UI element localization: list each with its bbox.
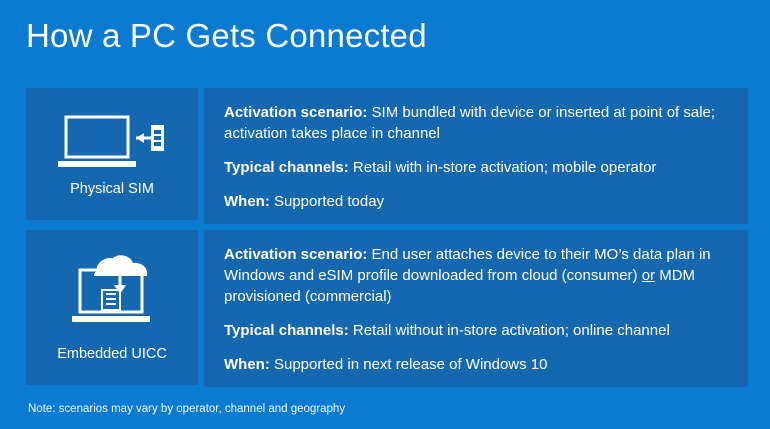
- physical-sim-icon-cell: Physical SIM: [26, 88, 198, 220]
- when-text-row1: Supported today: [270, 193, 384, 210]
- table-row: Embedded UICC Activation scenario: End u…: [26, 230, 748, 387]
- embedded-uicc-icon-cell: Embedded UICC: [26, 230, 198, 385]
- activation-scenario-row2: Activation scenario: End user attaches d…: [224, 244, 732, 307]
- typical-channels-text-row1: Retail with in-store activation; mobile …: [349, 159, 657, 176]
- typical-channels-text-row2: Retail without in-store activation; onli…: [349, 322, 670, 339]
- activation-scenario-underlined-row2: or: [642, 267, 655, 284]
- when-row1: When: Supported today: [224, 191, 732, 212]
- typical-channels-label-row1: Typical channels:: [224, 159, 349, 176]
- rows-container: Physical SIM Activation scenario: SIM bu…: [26, 88, 748, 393]
- page-title: How a PC Gets Connected: [26, 16, 427, 56]
- footnote: Note: scenarios may vary by operator, ch…: [28, 403, 345, 415]
- embedded-uicc-text-cell: Activation scenario: End user attaches d…: [204, 230, 748, 387]
- physical-sim-text-cell: Activation scenario: SIM bundled with de…: [204, 88, 748, 224]
- typical-channels-row2: Typical channels: Retail without in-stor…: [224, 320, 732, 341]
- laptop-sim-card-icon: [56, 111, 168, 173]
- typical-channels-label-row2: Typical channels:: [224, 322, 349, 339]
- when-label-row1: When:: [224, 193, 270, 210]
- physical-sim-caption: Physical SIM: [70, 181, 154, 197]
- when-row2: When: Supported in next release of Windo…: [224, 354, 732, 375]
- activation-scenario-label-row1: Activation scenario:: [224, 104, 367, 121]
- when-text-row2: Supported in next release of Windows 10: [270, 356, 548, 373]
- activation-scenario-row1: Activation scenario: SIM bundled with de…: [224, 102, 732, 144]
- typical-channels-row1: Typical channels: Retail with in-store a…: [224, 157, 732, 178]
- embedded-uicc-caption: Embedded UICC: [57, 346, 167, 362]
- laptop-cloud-esim-icon: [56, 254, 168, 338]
- slide: How a PC Gets Connected: [0, 0, 770, 429]
- activation-scenario-label-row2: Activation scenario:: [224, 246, 367, 263]
- table-row: Physical SIM Activation scenario: SIM bu…: [26, 88, 748, 224]
- when-label-row2: When:: [224, 356, 270, 373]
